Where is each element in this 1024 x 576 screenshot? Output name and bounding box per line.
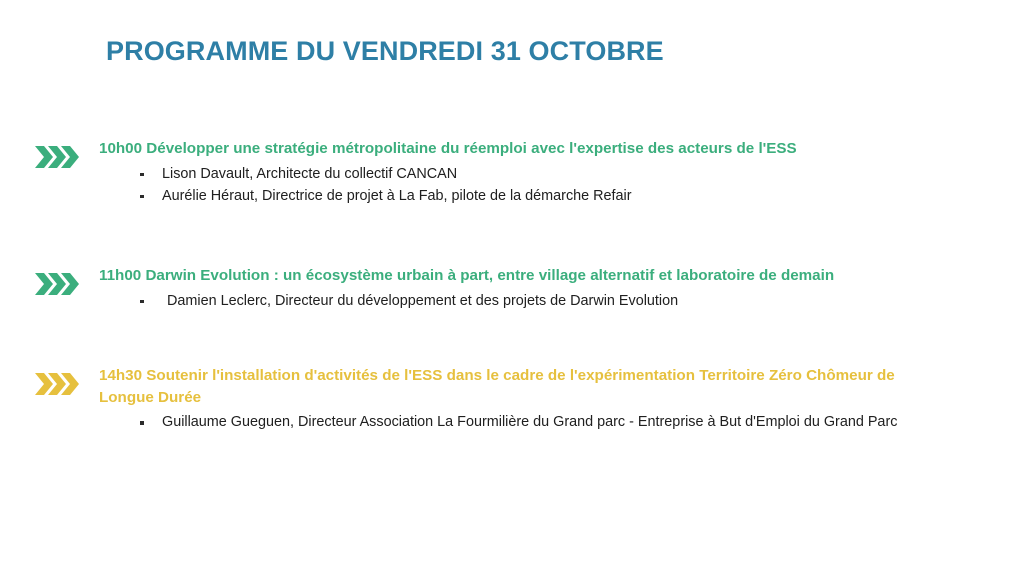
list-item: Lison Davault, Architecte du collectif C… (99, 164, 904, 185)
session-heading: 14h30 Soutenir l'installation d'activité… (99, 365, 904, 408)
list-item: Guillaume Gueguen, Directeur Association… (99, 412, 904, 433)
session-body: 10h00 Développer une stratégie métropoli… (99, 138, 904, 207)
bullet-icon (140, 421, 144, 425)
triple-chevron-right-icon (33, 269, 83, 299)
speaker-list: Guillaume Gueguen, Directeur Association… (99, 412, 904, 433)
session-body: 11h00 Darwin Evolution : un écosystème u… (99, 265, 904, 312)
speaker-list: Lison Davault, Architecte du collectif C… (99, 164, 904, 207)
page-title: PROGRAMME DU VENDREDI 31 OCTOBRE (106, 36, 664, 67)
presentation-slide: PROGRAMME DU VENDREDI 31 OCTOBRE 10h00 D… (0, 0, 1024, 576)
agenda-session-block: 10h00 Développer une stratégie métropoli… (0, 138, 1024, 208)
bullet-icon (140, 300, 144, 304)
list-item: Damien Leclerc, Directeur du développeme… (99, 291, 904, 312)
speaker-name: Lison Davault, Architecte du collectif C… (162, 166, 457, 182)
session-heading: 11h00 Darwin Evolution : un écosystème u… (99, 265, 904, 287)
speaker-name: Damien Leclerc, Directeur du développeme… (167, 293, 678, 309)
session-heading: 10h00 Développer une stratégie métropoli… (99, 138, 904, 160)
speaker-name: Guillaume Gueguen, Directeur Association… (162, 414, 897, 430)
bullet-icon (140, 195, 144, 199)
session-body: 14h30 Soutenir l'installation d'activité… (99, 365, 904, 433)
triple-chevron-right-icon (33, 142, 83, 172)
agenda-session-block: 11h00 Darwin Evolution : un écosystème u… (0, 265, 1024, 313)
speaker-list: Damien Leclerc, Directeur du développeme… (99, 291, 904, 312)
bullet-icon (140, 173, 144, 177)
list-item: Aurélie Héraut, Directrice de projet à L… (99, 186, 904, 207)
triple-chevron-right-icon (33, 369, 83, 399)
speaker-name: Aurélie Héraut, Directrice de projet à L… (162, 188, 632, 204)
agenda-session-block: 14h30 Soutenir l'installation d'activité… (0, 365, 1024, 434)
